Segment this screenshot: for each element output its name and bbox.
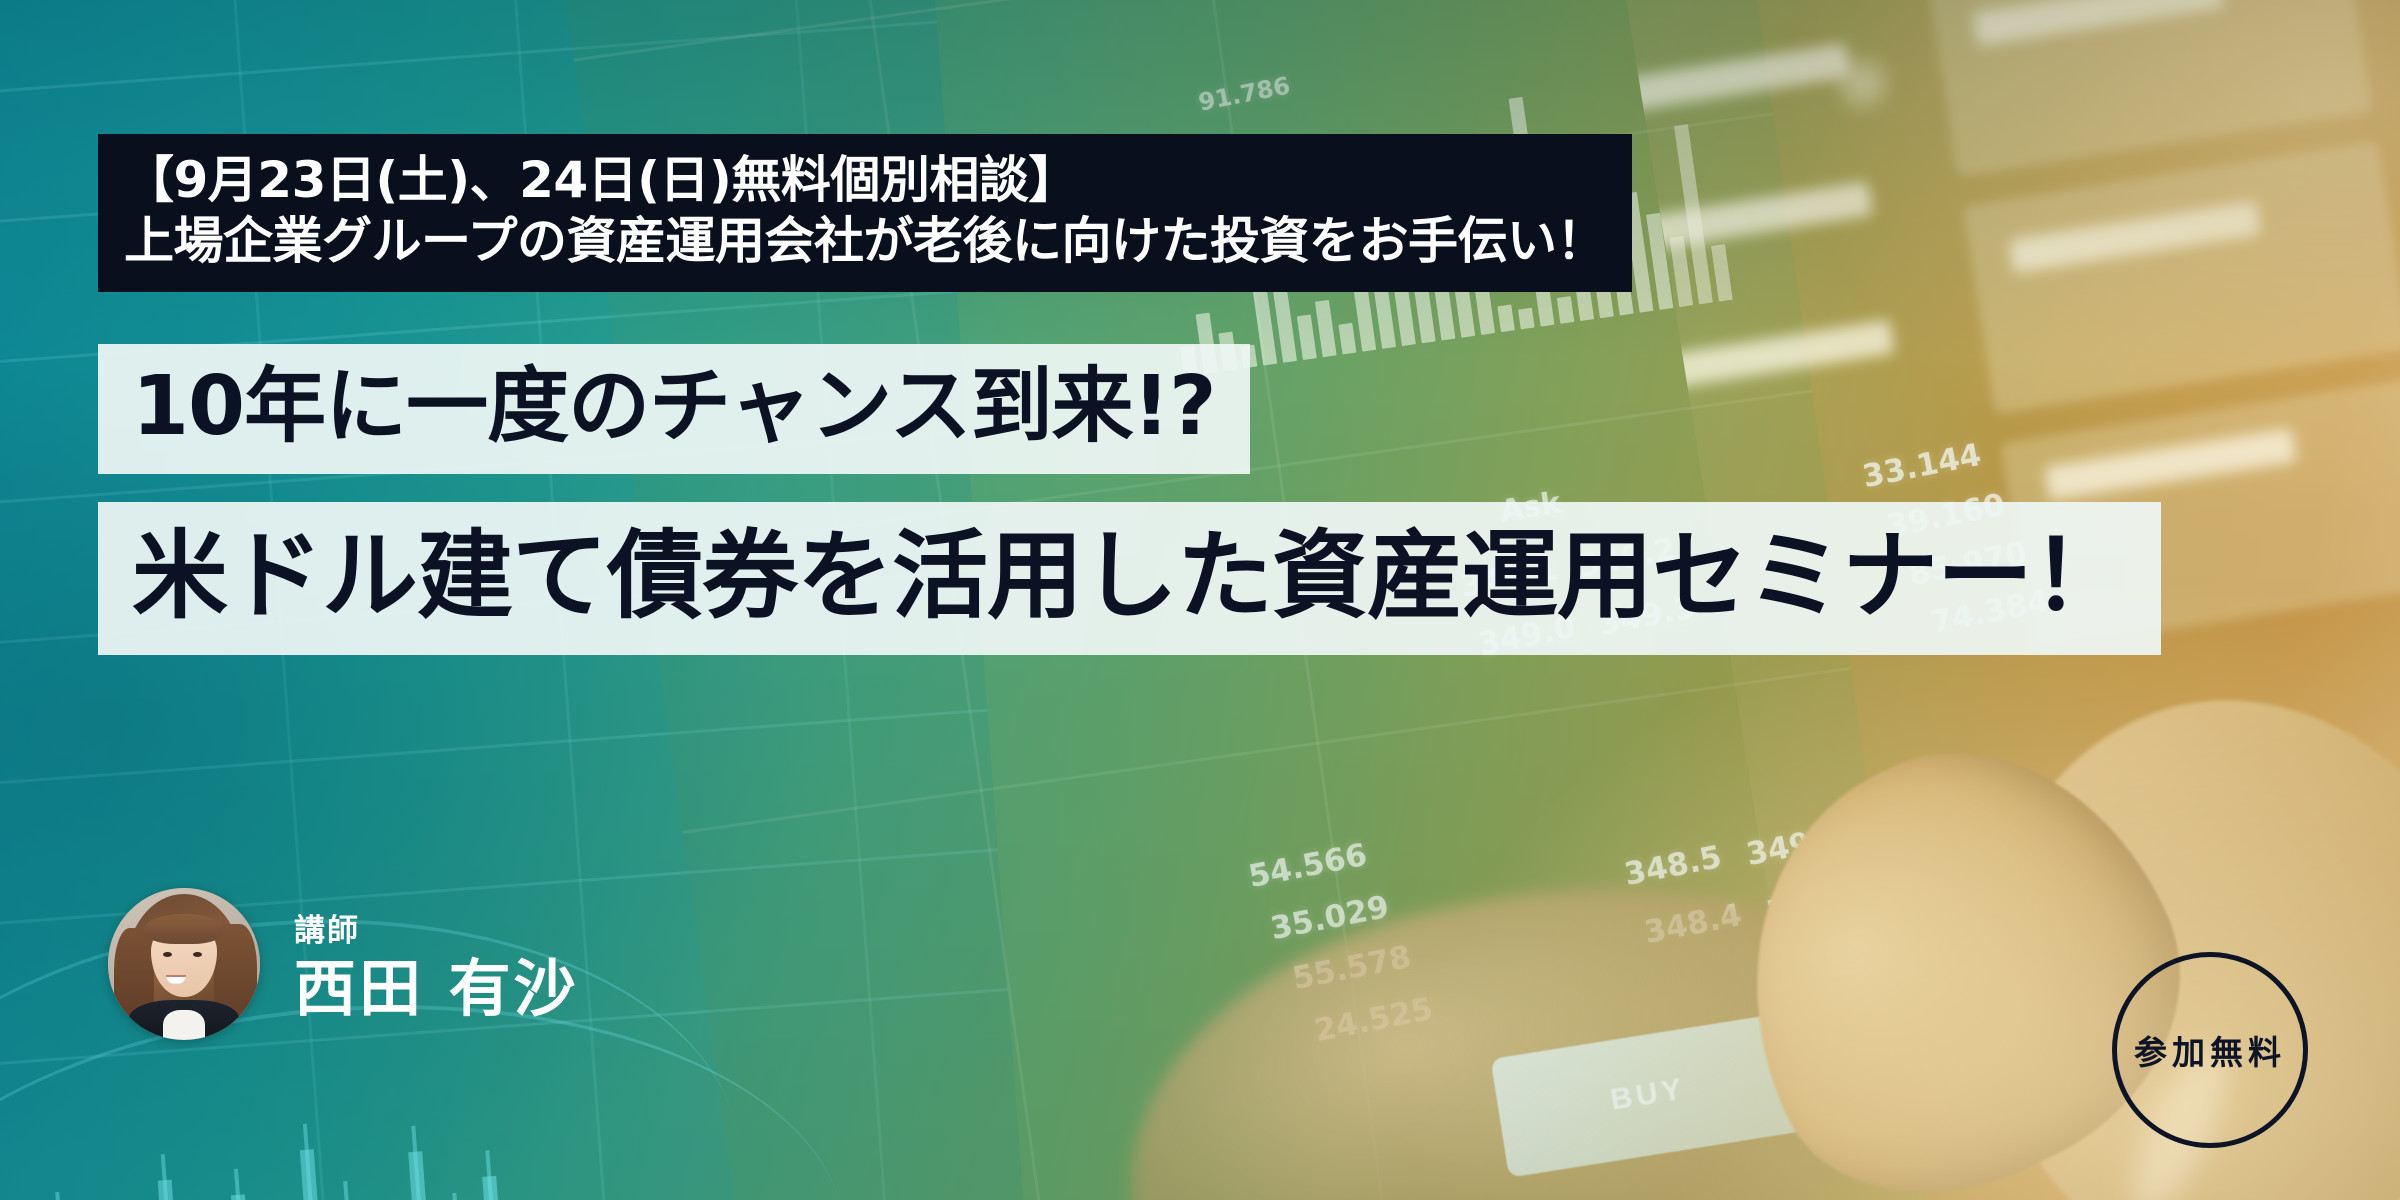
kicker-line-2: 上場企業グループの資産運用会社が老後に向けた投資をお手伝い！ (124, 211, 1606, 272)
speaker-role-label: 講師 (294, 905, 579, 950)
speaker-texts: 講師 西田 有沙 (294, 905, 579, 1023)
kicker-box: 【9月23日(土)、24日(日)無料個別相談】 上場企業グループの資産運用会社が… (98, 134, 1632, 292)
free-badge-label: 参加無料 (2134, 1026, 2286, 1074)
speaker-block: 講師 西田 有沙 (108, 888, 579, 1040)
seminar-banner: 91.786 Ask 349.1 349.2 349.0 349.3 33.14… (0, 0, 2400, 1200)
banner-content: 【9月23日(土)、24日(日)無料個別相談】 上場企業グループの資産運用会社が… (0, 0, 2400, 1200)
headline-box-2: 米ドル建て債券を活用した資産運用セミナー！ (98, 502, 2161, 655)
free-participation-badge: 参加無料 (2112, 952, 2308, 1148)
kicker-line-1: 【9月23日(土)、24日(日)無料個別相談】 (124, 150, 1606, 211)
speaker-avatar (108, 888, 260, 1040)
speaker-name: 西田 有沙 (294, 956, 579, 1023)
headline-1: 10年に一度のチャンス到来!? (132, 364, 1216, 450)
headline-box-1: 10年に一度のチャンス到来!? (98, 344, 1250, 474)
headline-2: 米ドル建て債券を活用した資産運用セミナー！ (132, 526, 2127, 627)
